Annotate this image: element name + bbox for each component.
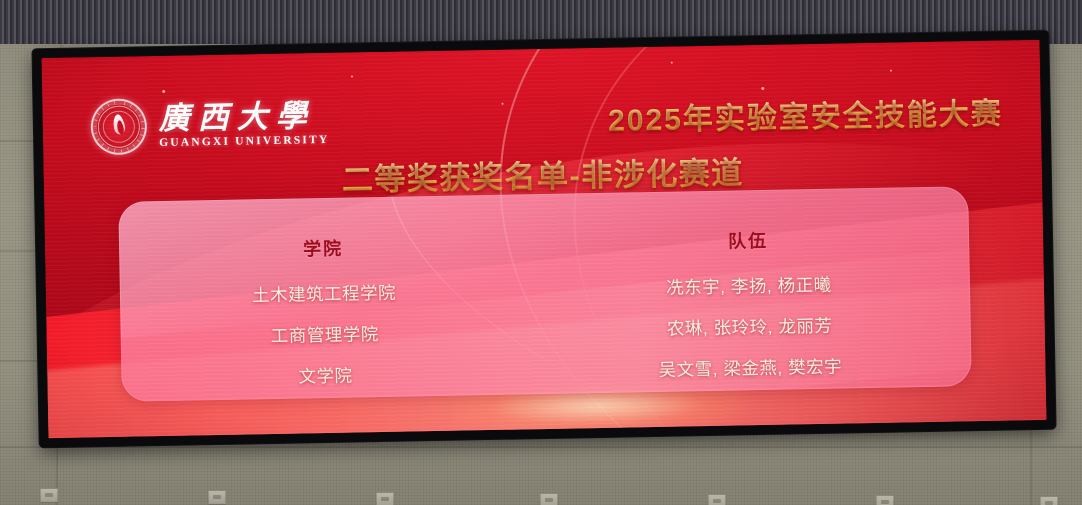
wall-outlet <box>40 488 58 502</box>
guangxi-university-emblem-icon <box>90 98 147 155</box>
university-name-en: GUANGXI UNIVERSITY <box>159 135 329 150</box>
award-list-table: 学院 队伍 土木建筑工程学院 冼东宇, 李扬, 杨正曦 工商管理学院 农琳, 张… <box>119 220 972 400</box>
university-name-cn: 廣西大學 <box>158 100 329 134</box>
led-display-wall: 廣西大學 GUANGXI UNIVERSITY 2025年实验室安全技能大赛 二… <box>32 31 1055 448</box>
sparkle <box>162 90 165 93</box>
wall-outlet <box>540 493 558 505</box>
award-list-panel: 学院 队伍 土木建筑工程学院 冼东宇, 李扬, 杨正曦 工商管理学院 农琳, 张… <box>118 186 972 402</box>
university-wordmark: 廣西大學 GUANGXI UNIVERSITY <box>158 100 329 150</box>
wall-outlet <box>208 490 226 504</box>
wall-outlet <box>708 494 726 505</box>
wall-seam <box>0 446 1082 448</box>
wall-outlet <box>376 492 394 505</box>
cell-college: 文学院 <box>121 351 530 399</box>
cell-team: 吴文雪, 梁金燕, 樊宏宇 <box>529 343 972 392</box>
wall-outlet <box>1040 496 1058 505</box>
wall-outlet <box>876 495 894 505</box>
sparkle <box>671 62 673 64</box>
slide-title-main: 2025年实验室安全技能大赛 <box>608 89 1003 140</box>
photo-scene: 廣西大學 GUANGXI UNIVERSITY 2025年实验室安全技能大赛 二… <box>0 0 1082 505</box>
sparkle <box>761 87 764 90</box>
university-logo: 廣西大學 GUANGXI UNIVERSITY <box>90 95 329 155</box>
display-screen: 廣西大學 GUANGXI UNIVERSITY 2025年实验室安全技能大赛 二… <box>42 40 1047 438</box>
